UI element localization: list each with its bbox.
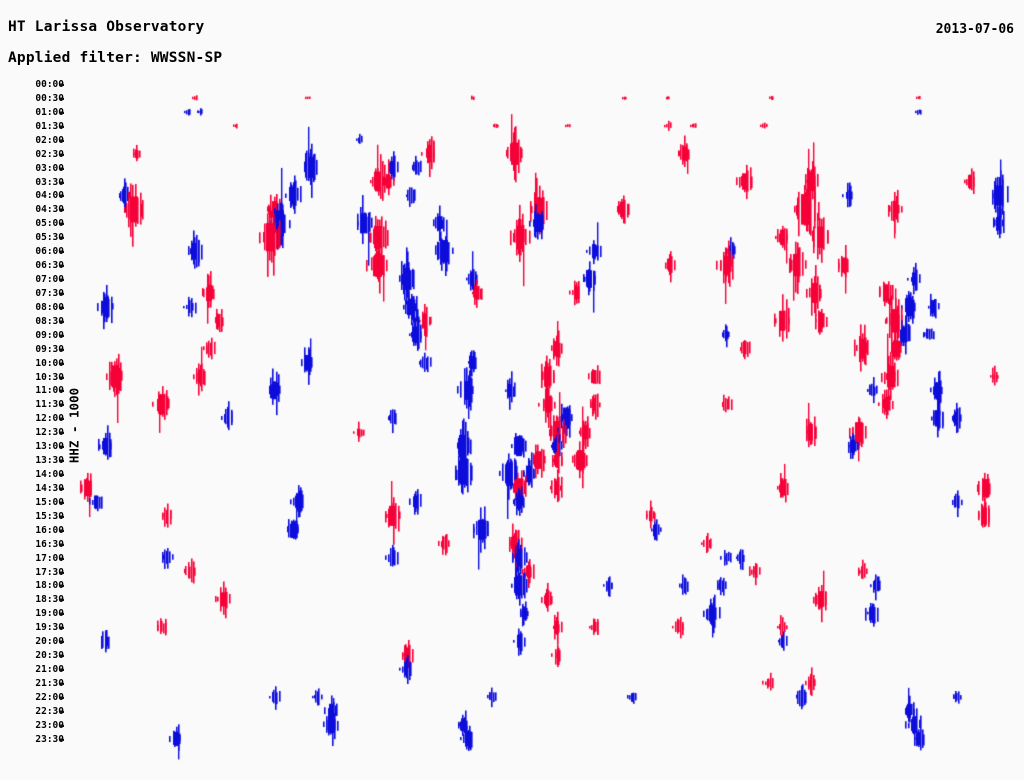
y-axis-tick-text: 00:30 xyxy=(6,94,64,103)
y-axis-tick-mark xyxy=(60,209,64,211)
y-axis-tick-mark xyxy=(60,613,64,615)
y-axis-tick-mark xyxy=(60,725,64,727)
y-axis-tick-label: 22:30 xyxy=(0,707,64,717)
y-axis-tick-mark xyxy=(60,544,64,546)
y-axis-tick-label: 15:30 xyxy=(0,512,64,522)
y-axis-tick-label: 20:30 xyxy=(0,651,64,661)
y-axis-tick-label: 15:00 xyxy=(0,498,64,508)
y-axis-tick-mark xyxy=(60,195,64,197)
y-axis-tick-mark xyxy=(60,279,64,281)
plot-date: 2013-07-06 xyxy=(936,22,1014,37)
y-axis-tick-mark xyxy=(60,530,64,532)
y-axis-tick-mark xyxy=(60,98,64,100)
y-axis-tick-label: 10:00 xyxy=(0,359,64,369)
y-axis-tick-text: 16:30 xyxy=(6,540,64,549)
y-axis-tick-mark xyxy=(60,307,64,309)
y-axis-tick-label: 01:30 xyxy=(0,122,64,132)
y-axis-tick-mark xyxy=(60,349,64,351)
y-axis-tick-label: 19:00 xyxy=(0,609,64,619)
y-axis-tick-text: 05:30 xyxy=(6,233,64,242)
y-axis-tick-text: 23:30 xyxy=(6,735,64,744)
y-axis-tick-mark xyxy=(60,377,64,379)
y-axis-tick-text: 21:30 xyxy=(6,679,64,688)
y-axis-tick-label: 16:00 xyxy=(0,526,64,536)
y-axis-tick-mark xyxy=(60,711,64,713)
y-axis-tick-text: 01:30 xyxy=(6,122,64,131)
helicorder-plot-area: 00:0000:3001:0001:3002:0002:3003:0003:30… xyxy=(0,78,1024,778)
y-axis-tick-label: 07:00 xyxy=(0,275,64,285)
y-axis-tick-label: 02:30 xyxy=(0,150,64,160)
y-axis-tick-label: 19:30 xyxy=(0,623,64,633)
y-axis-tick-text: 21:00 xyxy=(6,665,64,674)
y-axis-tick-text: 12:00 xyxy=(6,414,64,423)
y-axis-tick-label: 05:30 xyxy=(0,233,64,243)
y-axis-tick-text: 17:00 xyxy=(6,554,64,563)
y-axis-tick-label: 03:00 xyxy=(0,164,64,174)
y-axis-tick-text: 04:30 xyxy=(6,205,64,214)
seismic-trace-canvas xyxy=(0,78,1024,778)
y-axis-tick-text: 10:00 xyxy=(6,359,64,368)
y-axis-tick-mark xyxy=(60,669,64,671)
y-axis-tick-text: 09:30 xyxy=(6,345,64,354)
y-axis-tick-label: 18:00 xyxy=(0,581,64,591)
y-axis-tick-text: 04:00 xyxy=(6,191,64,200)
y-axis-tick-mark xyxy=(60,265,64,267)
y-axis-tick-text: 19:00 xyxy=(6,609,64,618)
y-axis-tick-mark xyxy=(60,126,64,128)
y-axis-tick-label: 18:30 xyxy=(0,595,64,605)
y-axis-tick-text: 13:00 xyxy=(6,442,64,451)
y-axis-tick-mark xyxy=(60,182,64,184)
y-axis-tick-mark xyxy=(60,321,64,323)
y-axis-tick-text: 14:30 xyxy=(6,484,64,493)
y-axis-tick-text: 18:00 xyxy=(6,581,64,590)
y-axis-tick-text: 11:30 xyxy=(6,400,64,409)
y-axis-tick-mark xyxy=(60,418,64,420)
y-axis-tick-text: 15:30 xyxy=(6,512,64,521)
y-axis-tick-label: 11:30 xyxy=(0,400,64,410)
y-axis-tick-mark xyxy=(60,293,64,295)
y-axis-tick-label: 13:00 xyxy=(0,442,64,452)
y-axis-tick-mark xyxy=(60,627,64,629)
applied-filter-label: Applied filter: WWSSN-SP xyxy=(8,50,222,66)
station-title: HT Larissa Observatory xyxy=(8,19,204,35)
y-axis-tick-mark xyxy=(60,488,64,490)
y-axis-tick-label: 02:00 xyxy=(0,136,64,146)
y-axis-tick-mark xyxy=(60,251,64,253)
y-axis-tick-text: 16:00 xyxy=(6,526,64,535)
y-axis-tick-label: 14:30 xyxy=(0,484,64,494)
y-axis-tick-mark xyxy=(60,404,64,406)
y-axis-tick-text: 12:30 xyxy=(6,428,64,437)
y-axis-tick-mark xyxy=(60,432,64,434)
y-axis-tick-text: 22:00 xyxy=(6,693,64,702)
y-axis-tick-text: 22:30 xyxy=(6,707,64,716)
y-axis-tick-text: 23:00 xyxy=(6,721,64,730)
y-axis-tick-text: 10:30 xyxy=(6,373,64,382)
y-axis-tick-label: 03:30 xyxy=(0,178,64,188)
y-axis-tick-mark xyxy=(60,641,64,643)
y-axis-tick-mark xyxy=(60,558,64,560)
y-axis-tick-mark xyxy=(60,516,64,518)
y-axis-tick-label: 05:00 xyxy=(0,219,64,229)
y-axis-tick-text: 09:00 xyxy=(6,331,64,340)
y-axis-tick-label: 04:30 xyxy=(0,205,64,215)
y-axis-tick-mark xyxy=(60,585,64,587)
y-axis-tick-mark xyxy=(60,697,64,699)
y-axis-tick-text: 15:00 xyxy=(6,498,64,507)
y-axis-tick-text: 11:00 xyxy=(6,386,64,395)
y-axis-tick-text: 20:00 xyxy=(6,637,64,646)
y-axis-tick-mark xyxy=(60,237,64,239)
y-axis-tick-label: 12:30 xyxy=(0,428,64,438)
y-axis-tick-label: 12:00 xyxy=(0,414,64,424)
y-axis-tick-label: 09:30 xyxy=(0,345,64,355)
y-axis-tick-label: 17:30 xyxy=(0,568,64,578)
y-axis-tick-text: 08:00 xyxy=(6,303,64,312)
y-axis-tick-label: 21:30 xyxy=(0,679,64,689)
y-axis-tick-text: 06:00 xyxy=(6,247,64,256)
y-axis-tick-text: 13:30 xyxy=(6,456,64,465)
y-axis-tick-label: 21:00 xyxy=(0,665,64,675)
y-axis-tick-mark xyxy=(60,154,64,156)
y-axis-tick-mark xyxy=(60,572,64,574)
y-axis-tick-label: 00:00 xyxy=(0,80,64,90)
y-axis-tick-label: 23:00 xyxy=(0,721,64,731)
y-axis-tick-mark xyxy=(60,363,64,365)
y-axis-tick-label: 23:30 xyxy=(0,735,64,745)
y-axis-tick-text: 03:00 xyxy=(6,164,64,173)
y-axis-tick-label: 10:30 xyxy=(0,373,64,383)
y-axis-tick-text: 00:00 xyxy=(6,80,64,89)
y-axis-tick-mark xyxy=(60,390,64,392)
y-axis-tick-mark xyxy=(60,739,64,741)
y-axis-tick-text: 14:00 xyxy=(6,470,64,479)
y-axis-tick-label: 13:30 xyxy=(0,456,64,466)
y-axis-tick-label: 14:00 xyxy=(0,470,64,480)
y-axis-tick-mark xyxy=(60,683,64,685)
y-axis-tick-label: 06:00 xyxy=(0,247,64,257)
y-axis-tick-label: 00:30 xyxy=(0,94,64,104)
y-axis-tick-label: 22:00 xyxy=(0,693,64,703)
y-axis-tick-text: 01:00 xyxy=(6,108,64,117)
y-axis-tick-text: 18:30 xyxy=(6,595,64,604)
y-axis-tick-text: 05:00 xyxy=(6,219,64,228)
y-axis-tick-mark xyxy=(60,446,64,448)
y-axis-tick-text: 02:00 xyxy=(6,136,64,145)
y-axis-tick-label: 04:00 xyxy=(0,191,64,201)
y-axis-tick-mark xyxy=(60,335,64,337)
y-axis-tick-text: 02:30 xyxy=(6,150,64,159)
y-axis-tick-text: 20:30 xyxy=(6,651,64,660)
y-axis-tick-text: 08:30 xyxy=(6,317,64,326)
y-axis-tick-mark xyxy=(60,502,64,504)
y-axis-tick-text: 07:30 xyxy=(6,289,64,298)
y-axis-tick-mark xyxy=(60,655,64,657)
y-axis-tick-mark xyxy=(60,112,64,114)
y-axis-tick-label: 20:00 xyxy=(0,637,64,647)
y-axis-tick-mark xyxy=(60,460,64,462)
y-axis-tick-text: 07:00 xyxy=(6,275,64,284)
y-axis-tick-label: 01:00 xyxy=(0,108,64,118)
y-axis-tick-label: 08:30 xyxy=(0,317,64,327)
y-axis-tick-label: 17:00 xyxy=(0,554,64,564)
y-axis-tick-label: 06:30 xyxy=(0,261,64,271)
y-axis-tick-label: 09:00 xyxy=(0,331,64,341)
y-axis-tick-mark xyxy=(60,140,64,142)
y-axis-tick-mark xyxy=(60,223,64,225)
y-axis-tick-mark xyxy=(60,474,64,476)
y-axis-tick-label: 07:30 xyxy=(0,289,64,299)
y-axis-tick-label: 16:30 xyxy=(0,540,64,550)
y-axis-tick-text: 19:30 xyxy=(6,623,64,632)
y-axis-tick-text: 03:30 xyxy=(6,178,64,187)
y-axis-tick-text: 17:30 xyxy=(6,568,64,577)
y-axis-tick-label: 08:00 xyxy=(0,303,64,313)
y-axis-tick-mark xyxy=(60,599,64,601)
y-axis-tick-label: 11:00 xyxy=(0,386,64,396)
y-axis-tick-mark xyxy=(60,168,64,170)
y-axis-tick-text: 06:30 xyxy=(6,261,64,270)
y-axis-tick-mark xyxy=(60,84,64,86)
